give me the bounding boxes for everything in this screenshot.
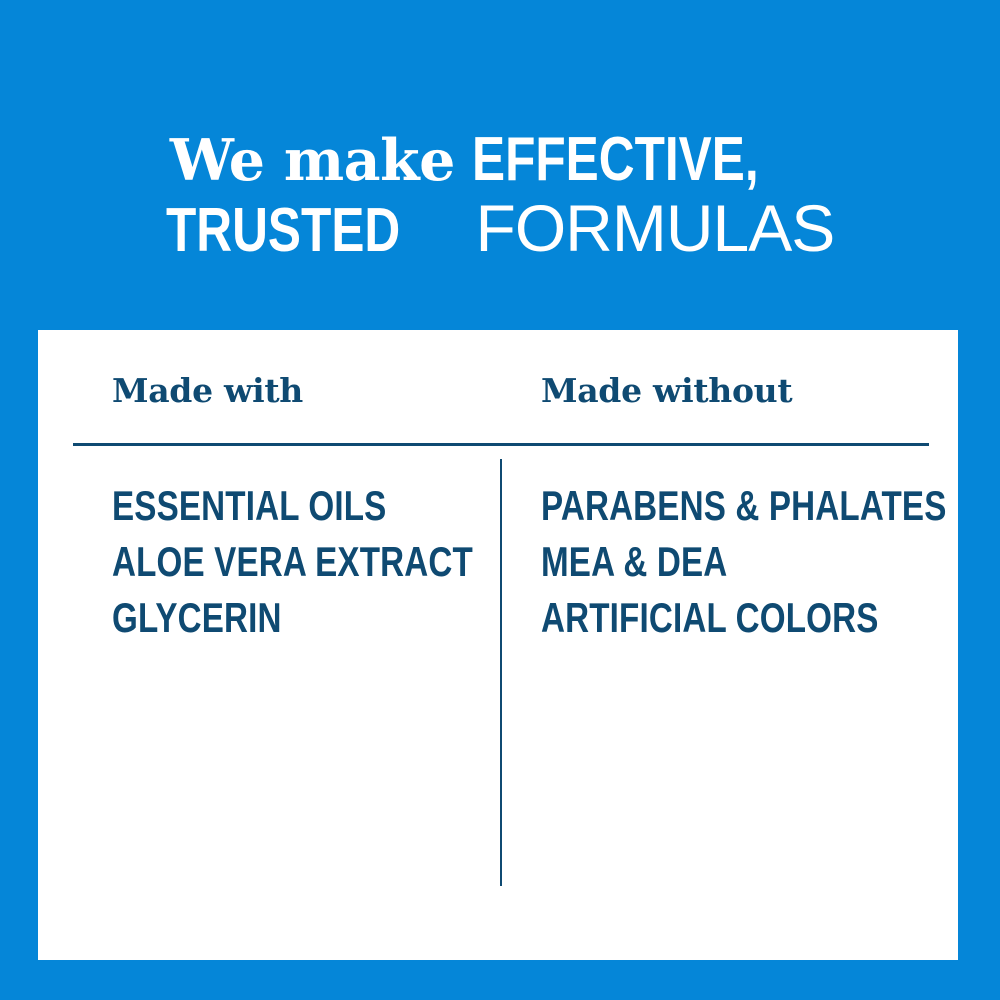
headline-we-make: We make [170, 127, 455, 194]
headline-line-2: TRUSTEDFORMULAS [0, 194, 1000, 263]
list-item: ARTIFICIAL COLORS [541, 590, 946, 646]
list-item: ALOE VERA EXTRACT [112, 534, 473, 590]
ingredients-card: Made with Made without ESSENTIAL OILS AL… [38, 330, 958, 960]
list-item: ESSENTIAL OILS [112, 478, 473, 534]
made-without-list: PARABENS & PHALATES MEA & DEA ARTIFICIAL… [541, 478, 1000, 646]
list-item: PARABENS & PHALATES [541, 478, 946, 534]
headline-line-1: We makeEFFECTIVE, [0, 128, 1000, 192]
headline-trusted: TRUSTED [166, 199, 400, 263]
column-header-made-without: Made without [541, 371, 792, 410]
header-divider-rule [73, 443, 929, 446]
headline-formulas: FORMULAS [476, 191, 835, 265]
list-item: GLYCERIN [112, 590, 473, 646]
column-header-made-with: Made with [112, 371, 303, 410]
promo-panel: { "colors": { "background_blue": "#0586d… [0, 0, 1000, 1000]
list-item: MEA & DEA [541, 534, 946, 590]
headline-effective: EFFECTIVE, [472, 128, 759, 192]
headline: We makeEFFECTIVE, TRUSTEDFORMULAS [0, 128, 1000, 264]
made-with-list: ESSENTIAL OILS ALOE VERA EXTRACT GLYCERI… [112, 478, 569, 646]
